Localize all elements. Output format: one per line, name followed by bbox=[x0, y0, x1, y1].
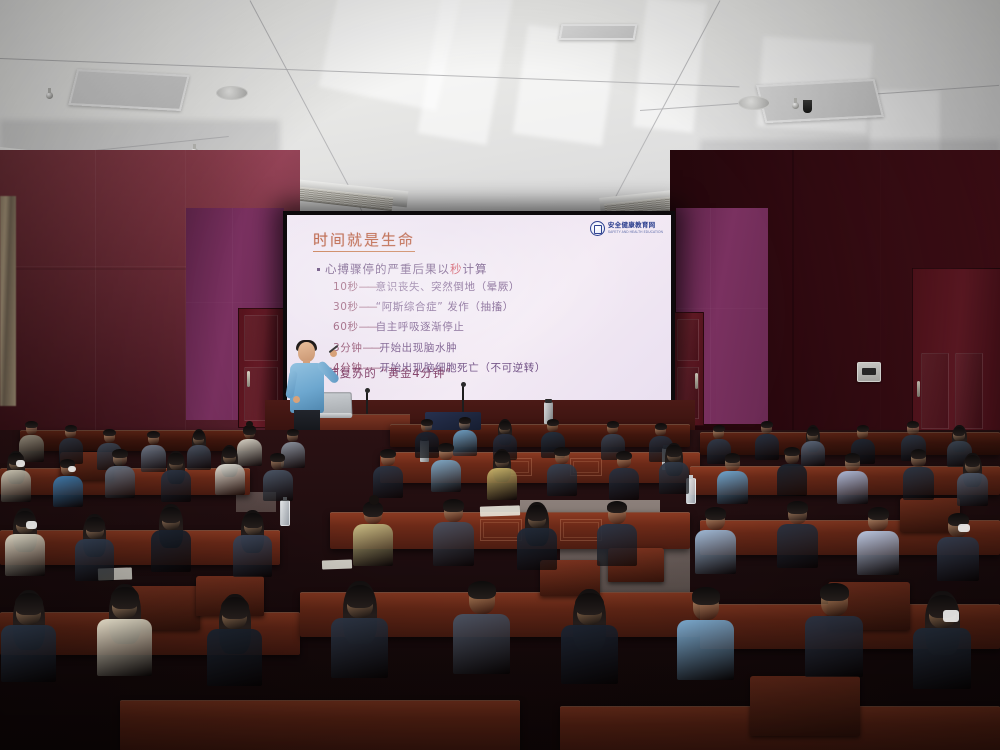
audience-member bbox=[716, 452, 749, 502]
hair bbox=[857, 425, 869, 433]
audience-member bbox=[96, 586, 154, 674]
audience-member bbox=[214, 446, 245, 494]
face-mask bbox=[16, 460, 25, 466]
hair bbox=[25, 421, 38, 429]
ceiling-speaker bbox=[803, 100, 812, 113]
hair bbox=[468, 581, 497, 599]
notebook bbox=[480, 505, 520, 516]
presenter-hand bbox=[293, 396, 300, 403]
audience-member bbox=[856, 506, 900, 573]
hair bbox=[705, 507, 726, 520]
torso bbox=[777, 464, 808, 496]
torso bbox=[433, 522, 474, 565]
audience-member bbox=[160, 452, 192, 501]
torso bbox=[805, 616, 863, 677]
torso bbox=[151, 530, 191, 572]
audience-member bbox=[776, 500, 819, 566]
hair bbox=[725, 453, 741, 463]
torso bbox=[517, 528, 557, 570]
door-handle[interactable] bbox=[695, 373, 698, 389]
audience-member bbox=[546, 446, 578, 495]
face-mask bbox=[958, 524, 970, 532]
hair bbox=[147, 431, 160, 439]
chair-back bbox=[750, 676, 860, 736]
hair bbox=[868, 507, 889, 520]
torso bbox=[263, 470, 293, 501]
face-mask bbox=[26, 521, 37, 529]
audience-member bbox=[4, 510, 46, 574]
door-handle[interactable] bbox=[917, 381, 920, 397]
torso bbox=[677, 620, 734, 680]
bullet-suffix: 计算 bbox=[463, 264, 488, 276]
water-bottle bbox=[280, 500, 290, 526]
face-mask bbox=[943, 610, 959, 622]
hair bbox=[907, 421, 920, 429]
audience-member bbox=[836, 452, 869, 502]
hair bbox=[953, 427, 966, 437]
hair bbox=[112, 449, 127, 459]
timeline-dash: —— bbox=[359, 321, 376, 333]
torso bbox=[597, 524, 637, 566]
torso bbox=[547, 464, 578, 496]
hair bbox=[161, 507, 181, 523]
door-handle[interactable] bbox=[247, 371, 250, 387]
slide-timeline-row: 60秒——自主呼吸逐渐停止 bbox=[333, 319, 663, 334]
hair bbox=[65, 425, 77, 433]
timeline-dash: —— bbox=[359, 281, 376, 293]
audience-member bbox=[912, 594, 973, 686]
torso bbox=[777, 524, 818, 567]
torso bbox=[233, 535, 273, 576]
audience-member bbox=[150, 506, 192, 570]
audience-member bbox=[776, 446, 808, 495]
audience-member bbox=[804, 582, 865, 674]
hair bbox=[111, 587, 139, 608]
training-room-photo: 安全健康教育网 SAFETY AND HEALTH EDUCATION 时间就是… bbox=[0, 0, 1000, 750]
presenter-head bbox=[298, 342, 315, 362]
notebook bbox=[322, 559, 352, 569]
window-curtain bbox=[0, 196, 16, 406]
shield-logo-icon bbox=[590, 221, 605, 236]
torso bbox=[561, 625, 617, 684]
ceiling-vent bbox=[738, 96, 770, 110]
hair bbox=[616, 451, 631, 461]
presenter bbox=[286, 342, 332, 434]
hair bbox=[911, 449, 927, 459]
slide-title: 时间就是生命 bbox=[313, 229, 415, 252]
torso bbox=[215, 464, 245, 495]
audience-member bbox=[432, 498, 475, 564]
timeline-text: 开始出现脑水肿 bbox=[379, 342, 457, 354]
hair bbox=[607, 501, 627, 514]
hair bbox=[221, 597, 249, 618]
torso bbox=[373, 466, 404, 498]
hair bbox=[421, 419, 433, 427]
audience-member bbox=[694, 506, 737, 572]
hair bbox=[784, 447, 799, 457]
bullet-highlight: 秒 bbox=[450, 264, 463, 276]
torso bbox=[695, 530, 736, 573]
timeline-dash: —— bbox=[362, 342, 379, 354]
ceiling-vent bbox=[216, 86, 248, 100]
torso bbox=[161, 470, 192, 502]
hair bbox=[965, 455, 981, 467]
hair bbox=[193, 431, 205, 441]
audience-member bbox=[936, 512, 980, 579]
bullet-dot-icon bbox=[317, 268, 320, 271]
audience-member bbox=[608, 450, 640, 499]
hair bbox=[692, 587, 721, 605]
hair bbox=[459, 417, 471, 425]
audience-member bbox=[596, 500, 638, 564]
hair-bun bbox=[369, 495, 379, 504]
hair bbox=[346, 585, 375, 607]
door-right-far[interactable] bbox=[912, 268, 1000, 440]
torso bbox=[353, 524, 393, 566]
hair bbox=[380, 449, 395, 459]
audience-member bbox=[330, 584, 390, 675]
hair bbox=[807, 427, 819, 437]
hair bbox=[713, 425, 725, 433]
audience-member bbox=[206, 596, 264, 684]
audience-member bbox=[232, 512, 273, 575]
audience-member bbox=[676, 586, 736, 677]
torso bbox=[453, 614, 510, 674]
face-mask bbox=[68, 466, 76, 472]
audience-member bbox=[352, 500, 394, 564]
torso bbox=[75, 539, 115, 580]
projection-screen: 安全健康教育网 SAFETY AND HEALTH EDUCATION 时间就是… bbox=[287, 215, 671, 410]
desk-row bbox=[120, 700, 520, 750]
timeline-time: 30秒 bbox=[333, 301, 359, 313]
torso bbox=[1, 625, 56, 683]
audience-member bbox=[516, 504, 558, 568]
hair bbox=[666, 445, 681, 457]
timeline-time: 10秒 bbox=[333, 281, 359, 293]
hair bbox=[787, 501, 808, 514]
hair bbox=[15, 593, 43, 614]
torso bbox=[53, 476, 83, 507]
audience-member bbox=[58, 424, 83, 463]
hair bbox=[270, 453, 285, 462]
bullet-prefix: 心搏骤停的严重后果以 bbox=[325, 264, 450, 276]
wall-control-panel[interactable] bbox=[857, 362, 881, 382]
hair bbox=[243, 513, 263, 528]
hair bbox=[547, 419, 559, 427]
audience-member bbox=[956, 454, 989, 504]
audience-member bbox=[74, 516, 115, 579]
slide-timeline-row: 30秒——“阿斯综合症” 发作（抽搐） bbox=[333, 299, 663, 314]
hair bbox=[820, 583, 849, 601]
hair bbox=[287, 429, 299, 437]
torso bbox=[207, 629, 262, 687]
hair bbox=[494, 451, 509, 463]
sprinkler-head bbox=[792, 102, 799, 109]
logo-name: 安全健康教育网 bbox=[608, 223, 663, 230]
ceiling-light-panel bbox=[559, 24, 638, 40]
torso bbox=[659, 462, 690, 494]
audience-member bbox=[52, 458, 83, 506]
torso bbox=[97, 619, 152, 677]
torso bbox=[1, 470, 32, 502]
hair bbox=[443, 499, 464, 512]
audience-member bbox=[372, 448, 404, 497]
hair bbox=[761, 421, 773, 429]
ceiling-light-panel bbox=[68, 69, 189, 111]
hair bbox=[575, 593, 603, 615]
audience-member bbox=[104, 448, 136, 497]
slide-bullet-main: 心搏骤停的严重后果以秒计算 bbox=[317, 261, 488, 277]
torso bbox=[331, 618, 388, 678]
projection-screen-frame: 安全健康教育网 SAFETY AND HEALTH EDUCATION 时间就是… bbox=[283, 211, 675, 414]
hair bbox=[85, 517, 105, 532]
hair bbox=[222, 447, 237, 459]
hair bbox=[607, 421, 619, 429]
timeline-text: 意识丧失、突然倒地（晕厥） bbox=[376, 281, 520, 293]
hair bbox=[527, 505, 547, 521]
slide-logo: 安全健康教育网 SAFETY AND HEALTH EDUCATION bbox=[590, 221, 663, 236]
torso bbox=[717, 471, 749, 504]
audience-member bbox=[0, 452, 32, 501]
timeline-time: 60秒 bbox=[333, 321, 359, 333]
hair bbox=[655, 423, 667, 431]
microphone bbox=[366, 392, 368, 414]
hair bbox=[103, 429, 116, 437]
audience-member bbox=[0, 592, 58, 680]
torso bbox=[487, 468, 518, 500]
sprinkler-head bbox=[46, 92, 53, 99]
torso bbox=[937, 537, 979, 581]
torso bbox=[957, 473, 989, 506]
torso bbox=[903, 467, 935, 500]
timeline-time: 3分钟 bbox=[333, 342, 362, 354]
torso bbox=[837, 471, 869, 504]
hair bbox=[845, 453, 861, 463]
torso bbox=[609, 468, 640, 500]
hair bbox=[499, 421, 511, 430]
audience-member bbox=[430, 442, 462, 491]
torso bbox=[857, 531, 899, 575]
audience-member bbox=[262, 452, 293, 500]
timeline-text: “阿斯综合症” 发作（抽搐） bbox=[376, 301, 514, 313]
logo-subtitle: SAFETY AND HEALTH EDUCATION bbox=[608, 230, 663, 234]
hair bbox=[168, 453, 183, 465]
torso bbox=[105, 466, 136, 498]
audience-member bbox=[560, 592, 619, 682]
slide-timeline-row: 3分钟——开始出现脑水肿 bbox=[333, 340, 663, 355]
ceiling-light-panel bbox=[756, 79, 884, 123]
audience-member bbox=[902, 448, 935, 498]
hair bbox=[438, 443, 453, 453]
timeline-text: 自主呼吸逐渐停止 bbox=[376, 321, 465, 333]
slide-timeline-row: 10秒——意识丧失、突然倒地（晕厥） bbox=[333, 279, 663, 294]
torso bbox=[431, 460, 462, 492]
microphone bbox=[462, 386, 464, 412]
audience-member bbox=[658, 444, 690, 493]
hair-bun bbox=[246, 421, 252, 427]
torso bbox=[913, 628, 971, 689]
audience-member bbox=[452, 580, 512, 671]
torso bbox=[5, 534, 45, 576]
timeline-dash: —— bbox=[359, 301, 376, 313]
hair bbox=[554, 447, 569, 457]
audience-member bbox=[486, 450, 518, 499]
